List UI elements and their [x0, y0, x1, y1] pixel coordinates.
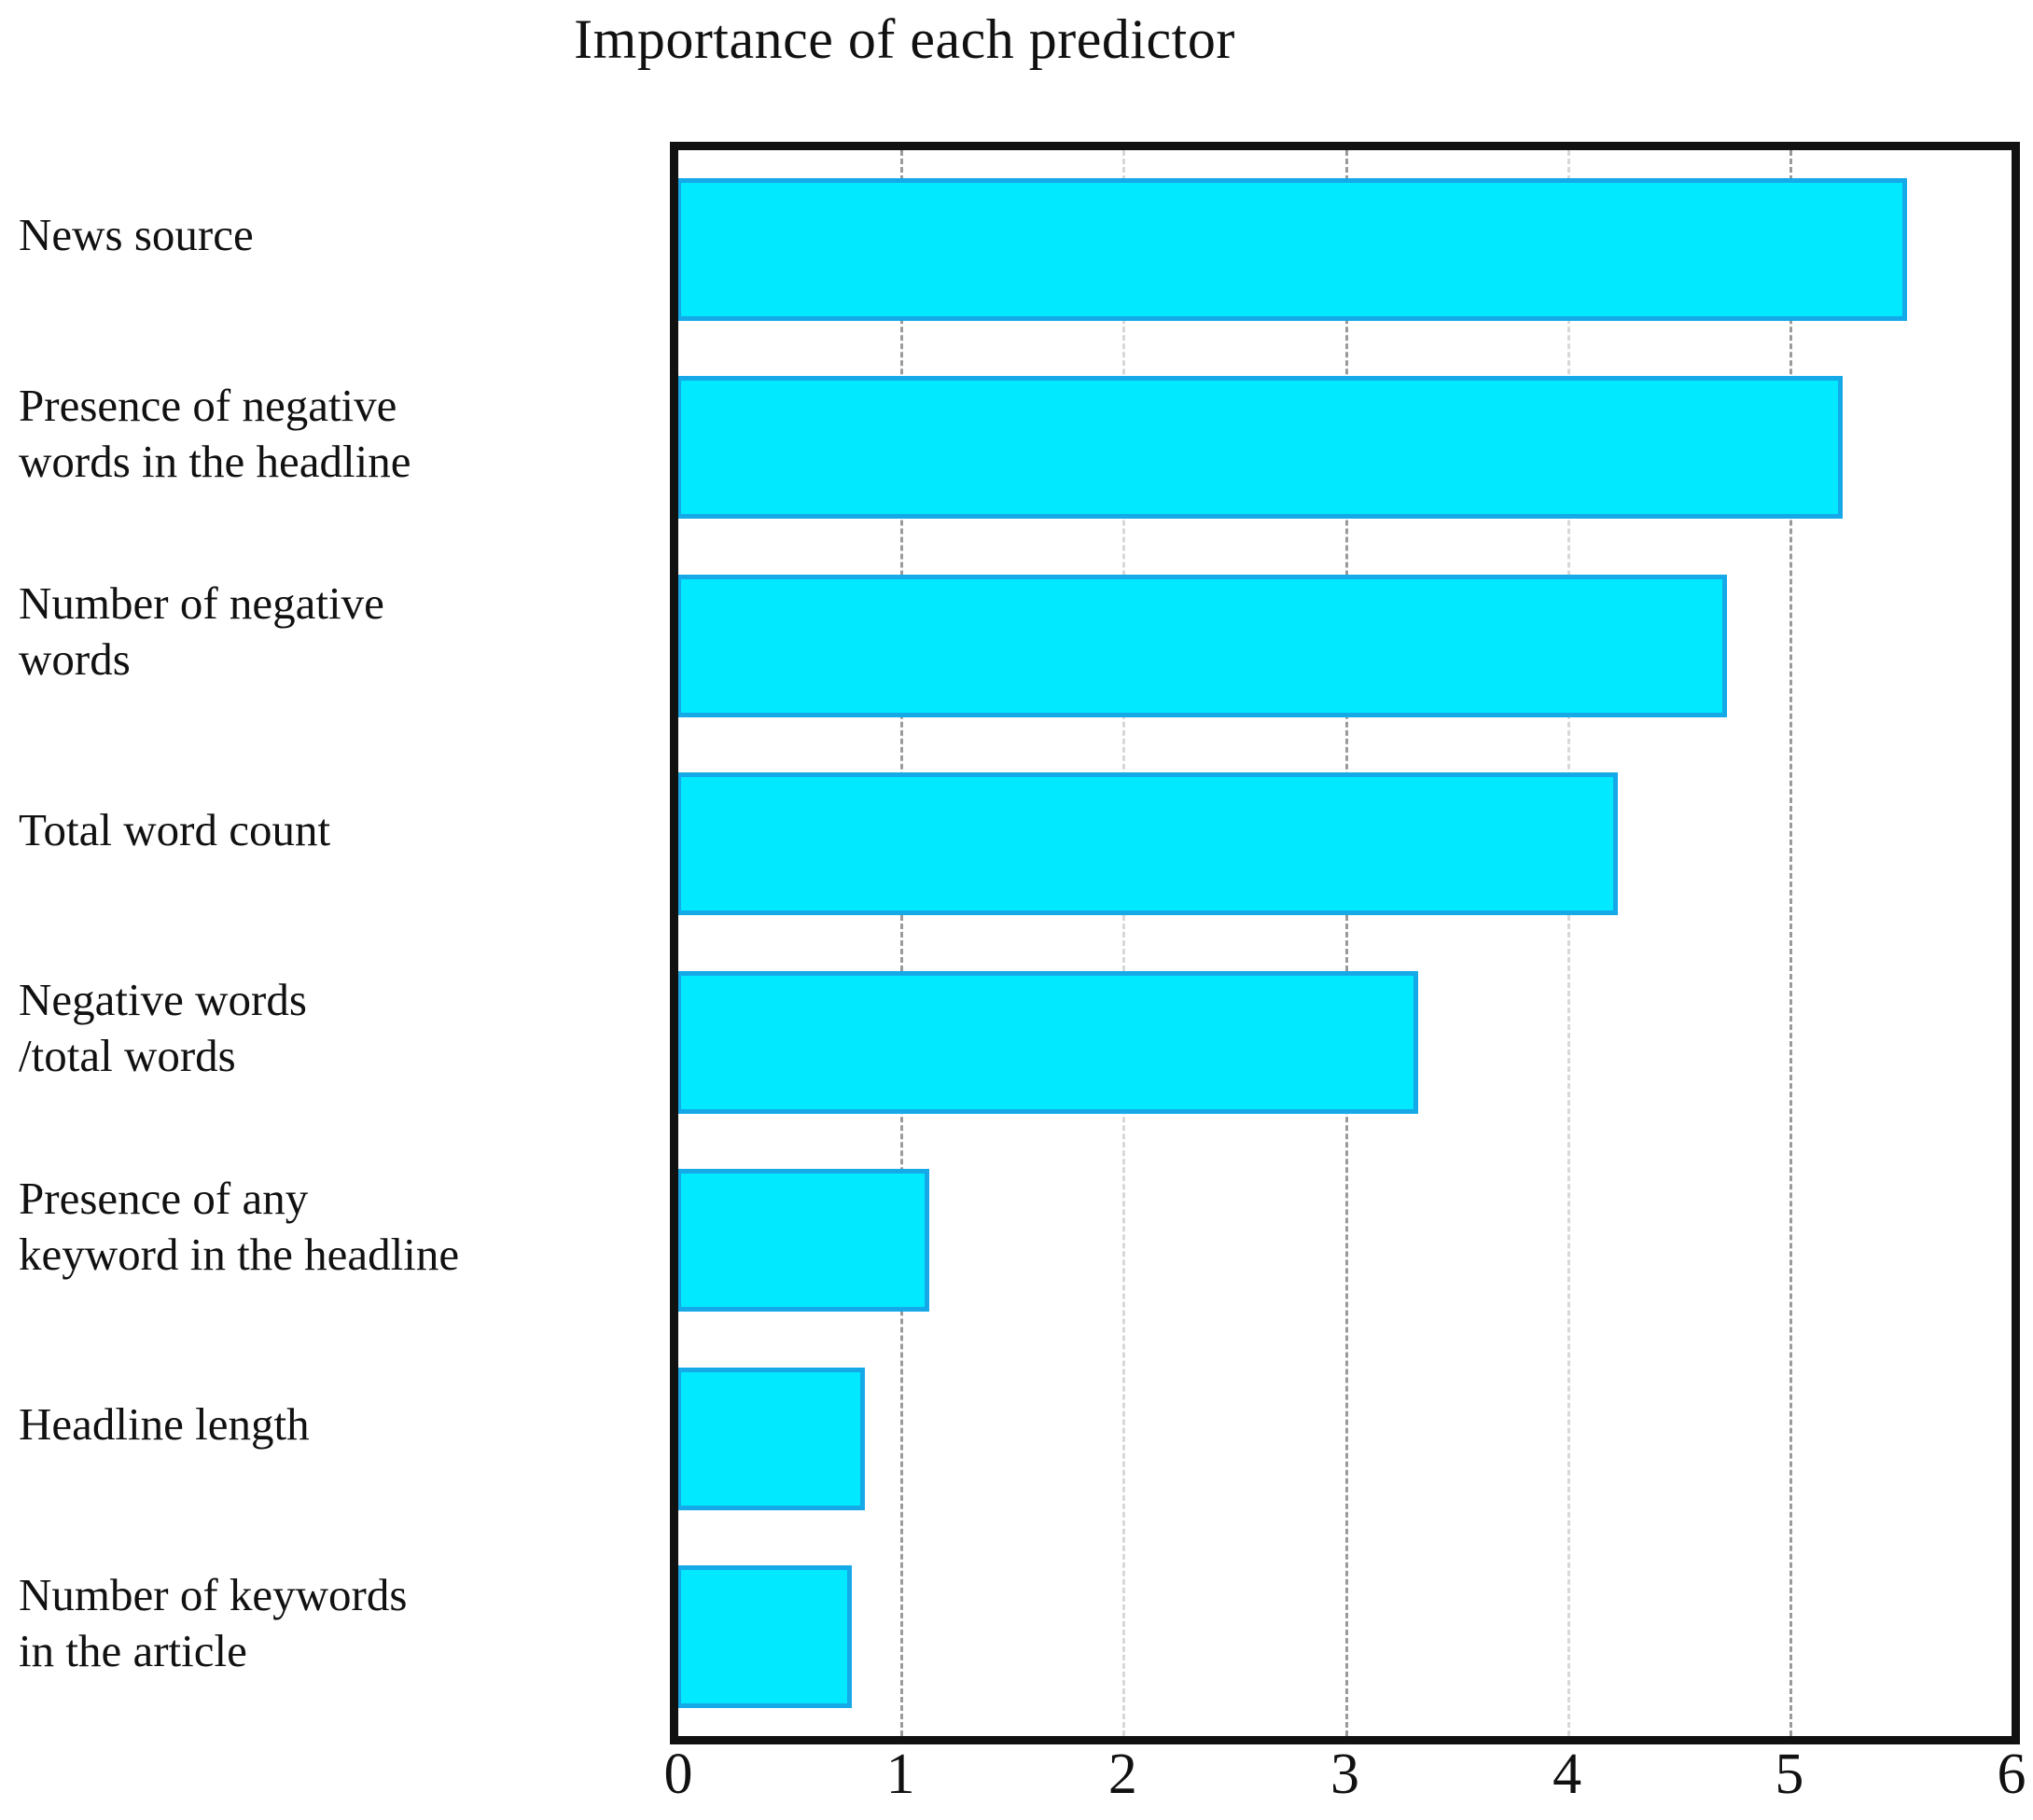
y-axis-label: Number of negative words: [19, 576, 646, 688]
y-axis-label: Negative words /total words: [19, 972, 646, 1084]
bar: [678, 971, 1418, 1114]
x-axis-tick-2: 2: [1066, 1741, 1178, 1808]
chart-title-text: Importance of each predictor: [574, 7, 1235, 72]
bar: [678, 772, 1618, 915]
plot-area: [670, 142, 2020, 1744]
x-axis-tick-6: 6: [1956, 1741, 2033, 1808]
y-axis-label-group: News sourcePresence of negative words in…: [0, 142, 653, 1728]
bar: [678, 178, 1907, 321]
chart-title: Importance of each predictor: [0, 7, 2033, 72]
y-axis-label: Total word count: [19, 802, 646, 858]
y-axis-label: Presence of any keyword in the headline: [19, 1171, 646, 1283]
x-axis-tick-4: 4: [1511, 1741, 1623, 1808]
x-axis-tick-5: 5: [1734, 1741, 1845, 1808]
bar: [678, 1565, 852, 1708]
bar: [678, 575, 1727, 717]
importance-bar-chart: Importance of each predictor News source…: [0, 0, 2033, 1820]
bar: [678, 376, 1843, 519]
y-axis-label: News source: [19, 207, 646, 263]
x-axis-tick-3: 3: [1289, 1741, 1401, 1808]
x-axis-tick-group: 0123456: [0, 1741, 2033, 1820]
bar: [678, 1169, 929, 1312]
x-axis-tick-0: 0: [622, 1741, 734, 1808]
y-axis-label: Number of keywords in the article: [19, 1567, 646, 1679]
bar: [678, 1368, 865, 1510]
x-axis-tick-1: 1: [844, 1741, 956, 1808]
y-axis-label: Presence of negative words in the headli…: [19, 378, 646, 490]
plot-inner: [678, 150, 2012, 1736]
y-axis-label: Headline length: [19, 1396, 646, 1452]
